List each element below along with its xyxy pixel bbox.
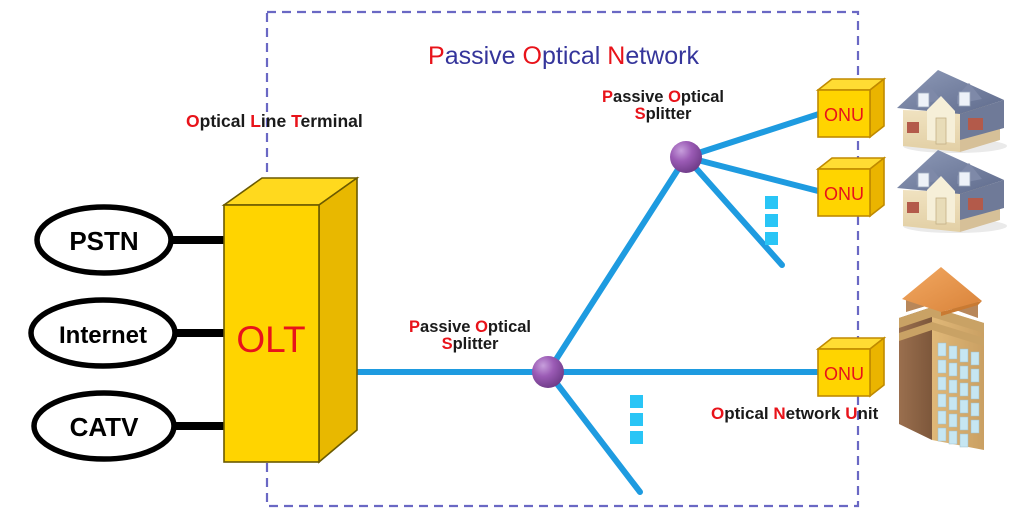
splitter-bottom-caption: Passive OpticalSplitter: [409, 319, 531, 354]
onu-label-2: ONU: [824, 184, 864, 204]
splitter-bottom-node[interactable]: [532, 356, 564, 388]
fiber-splitter-top-to-onu-2: [686, 157, 822, 192]
fiber-splitter-bottom-stub: [548, 372, 640, 492]
diagram-title: Passive Optical Network: [428, 42, 699, 71]
ellipsis-top: [765, 196, 778, 245]
pon-diagram-canvas: PSTN Internet CATV OLT ONU ONU ONU Passi…: [0, 0, 1024, 518]
fiber-splitter-top-stub: [686, 157, 782, 265]
house-illustration-2: [897, 150, 1007, 233]
ellipsis-bottom: [630, 395, 643, 444]
onu-label-3: ONU: [824, 364, 864, 384]
fiber-splitter-bottom-to-top: [548, 157, 686, 372]
splitter-top-caption: Passive OpticalSplitter: [602, 89, 724, 124]
source-label-catv: CATV: [70, 412, 140, 442]
diagram-graphics: PSTN Internet CATV OLT ONU ONU ONU: [0, 0, 1024, 518]
onu-label-1: ONU: [824, 105, 864, 125]
source-label-pstn: PSTN: [69, 226, 138, 256]
house-illustration-1: [897, 70, 1007, 153]
splitter-top-node[interactable]: [670, 141, 702, 173]
olt-label: OLT: [236, 319, 305, 360]
olt-caption: Optical Line Terminal: [186, 112, 363, 130]
office-building-illustration: [899, 267, 984, 450]
onu-caption: Optical Network Unit: [711, 405, 878, 423]
source-label-internet: Internet: [59, 322, 147, 349]
